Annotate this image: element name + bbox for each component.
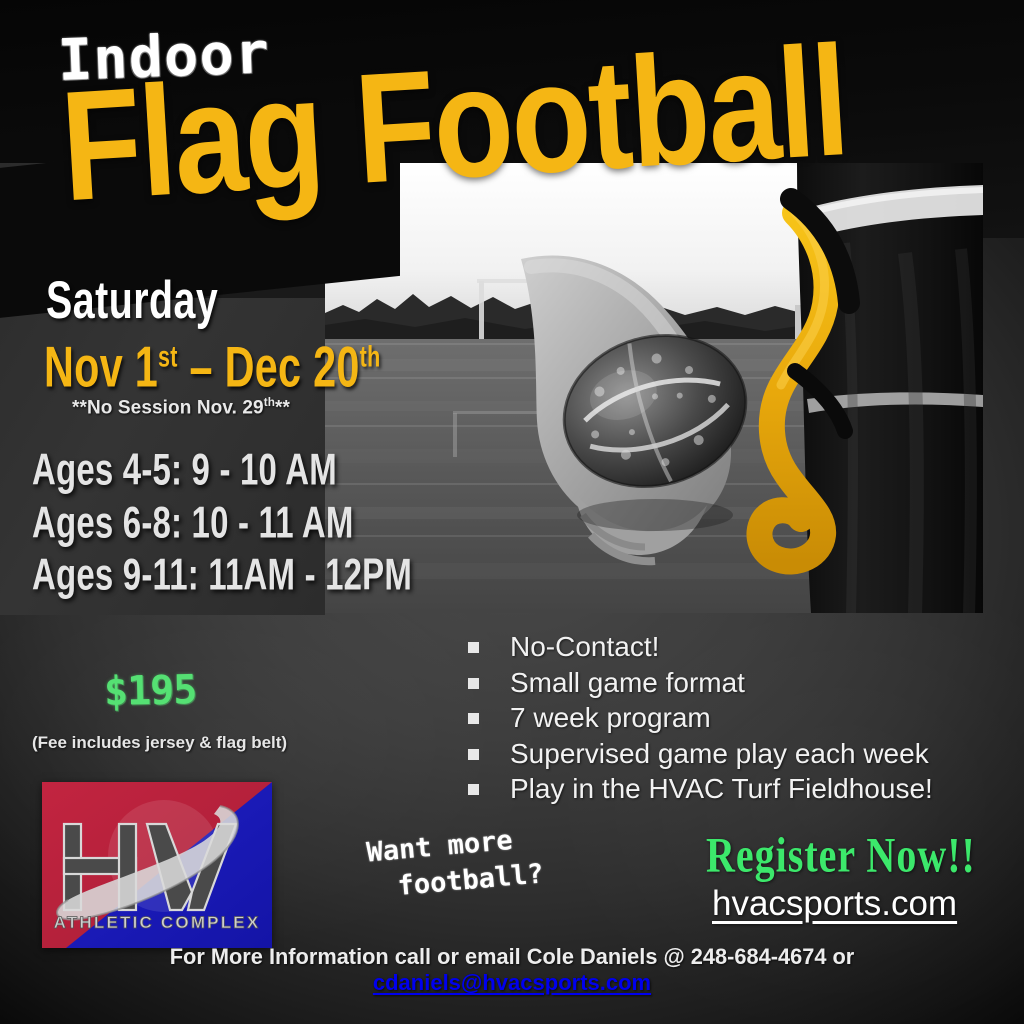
exception-sup: th [264,396,275,409]
date-range-start: Nov 1 [44,336,158,400]
footer-email-link[interactable]: cdaniels@hvacsports.com [373,970,651,995]
logo-subtitle: ATHLETIC COMPLEX [54,913,261,932]
square-bullet-icon [468,642,479,653]
price-amount: $195 [104,667,197,715]
feature-label: 7 week program [510,701,711,735]
age-group-list: Ages 4-5: 9 - 10 AM Ages 6-8: 10 - 11 AM… [32,448,424,599]
age-group-row: Ages 9-11: 11AM - 12PM [32,546,412,606]
schedule-exception: **No Session Nov. 29th** [72,396,290,419]
exception-suffix: ** [275,397,290,418]
price-note: (Fee includes jersey & flag belt) [32,733,287,753]
feature-label: No-Contact! [510,630,659,664]
square-bullet-icon [468,678,479,689]
square-bullet-icon [468,713,479,724]
age-group-row: Ages 6-8: 10 - 11 AM [32,493,412,553]
register-now-heading: Register Now!! [706,825,976,884]
age-group-row: Ages 4-5: 9 - 10 AM [32,441,412,501]
list-item: 7 week program [468,701,933,735]
list-item: Small game format [468,666,933,700]
website-link[interactable]: hvacsports.com [712,884,957,924]
schedule-day: Saturday [46,270,218,331]
footer-contact: For More Information call or email Cole … [0,944,1024,996]
feature-bullet-list: No-Contact! Small game format 7 week pro… [468,630,933,806]
logo-artwork: ATHLETIC COMPLEX [42,782,272,948]
list-item: Play in the HVAC Turf Fieldhouse! [468,772,933,806]
date-range-start-sup: st [158,339,178,373]
square-bullet-icon [468,784,479,795]
flyer-root: Indoor Flag Football Saturday Nov 1st – … [0,0,1024,1024]
exception-prefix: **No Session Nov. 29 [72,397,264,418]
footer-contact-line: For More Information call or email Cole … [5,944,1019,970]
date-range-end-sup: th [360,339,381,373]
promo-question: Want more football? [365,821,545,909]
date-range-sep: – Dec 20 [178,336,360,400]
schedule-date-range: Nov 1st – Dec 20th [44,336,381,401]
list-item: No-Contact! [468,630,933,664]
hvac-athletic-complex-logo: ATHLETIC COMPLEX [42,782,272,948]
feature-label: Small game format [510,666,745,700]
list-item: Supervised game play each week [468,737,933,771]
feature-label: Supervised game play each week [510,737,929,771]
square-bullet-icon [468,749,479,760]
feature-label: Play in the HVAC Turf Fieldhouse! [510,772,933,806]
